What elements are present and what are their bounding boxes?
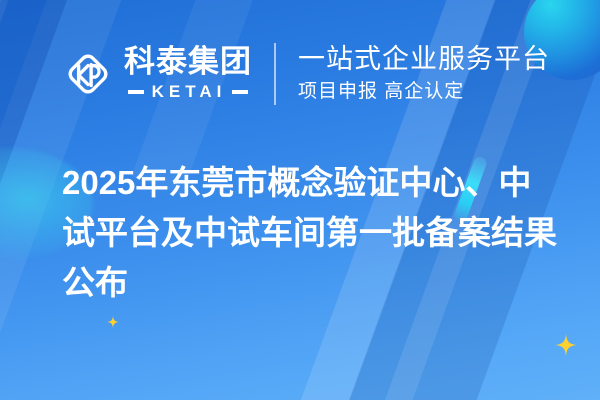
brand-name-cn: 科泰集团 [124, 46, 252, 79]
logo-dash-right-icon [232, 90, 248, 94]
tagline-main: 一站式企业服务平台 [298, 44, 550, 76]
kp-diamond-monogram-icon [62, 48, 114, 100]
banner-header: 科泰集团 KETAI 一站式企业服务平台 项目申报 高企认定 [0, 0, 600, 148]
promo-banner: 科泰集团 KETAI 一站式企业服务平台 项目申报 高企认定 2025年东莞市概… [0, 0, 600, 400]
brand-name-en-row: KETAI [124, 82, 252, 102]
tagline-block: 一站式企业服务平台 项目申报 高企认定 [298, 44, 550, 105]
header-divider [274, 43, 276, 105]
page-title: 2025年东莞市概念验证中心、中试平台及中试车间第一批备案结果公布 [62, 158, 562, 308]
brand-logo[interactable]: 科泰集团 KETAI [62, 46, 252, 102]
tagline-sub: 项目申报 高企认定 [298, 80, 550, 105]
logo-dash-left-icon [128, 90, 144, 94]
brand-name-en: KETAI [152, 82, 227, 102]
sparkle-large-icon [555, 334, 577, 356]
brand-logo-words: 科泰集团 KETAI [124, 46, 252, 102]
sparkle-small-icon [107, 316, 119, 328]
